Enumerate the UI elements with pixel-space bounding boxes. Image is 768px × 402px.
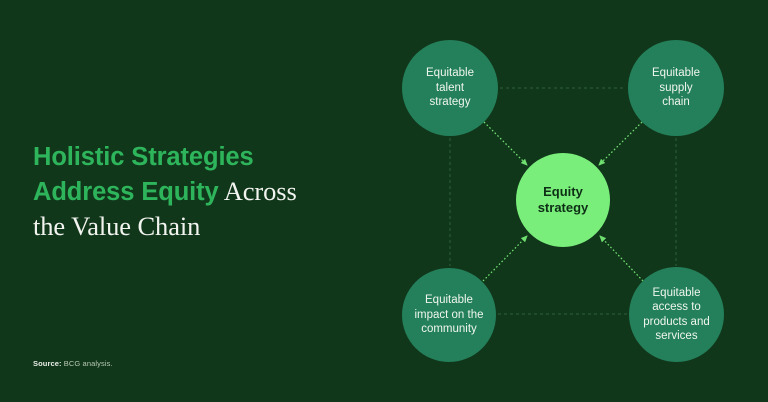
node-equity-strategy[interactable]: Equity strategy: [516, 153, 610, 247]
node-equitable-talent-strategy[interactable]: Equitable talent strategy: [402, 40, 498, 136]
node-equitable-impact-on-the-community[interactable]: Equitable impact on the community: [402, 268, 496, 362]
arrow-supply-to-center: [599, 122, 642, 165]
slide-canvas: Holistic Strategies Address Equity Acros…: [0, 0, 768, 402]
node-label: Equitable supply chain: [646, 66, 706, 110]
node-equitable-access-to-products-and-services[interactable]: Equitable access to products and service…: [629, 267, 724, 362]
arrow-access-to-center: [600, 236, 643, 281]
equity-value-chain-diagram: Equitable talent strategy Equitable supp…: [0, 0, 768, 402]
node-label: Equitable impact on the community: [408, 293, 489, 337]
node-label: Equitable access to products and service…: [637, 286, 716, 344]
node-label: Equity strategy: [532, 184, 595, 216]
arrow-impact-to-center: [483, 236, 527, 281]
node-equitable-supply-chain[interactable]: Equitable supply chain: [628, 40, 724, 136]
node-label: Equitable talent strategy: [420, 66, 480, 110]
arrow-talent-to-center: [484, 122, 527, 165]
